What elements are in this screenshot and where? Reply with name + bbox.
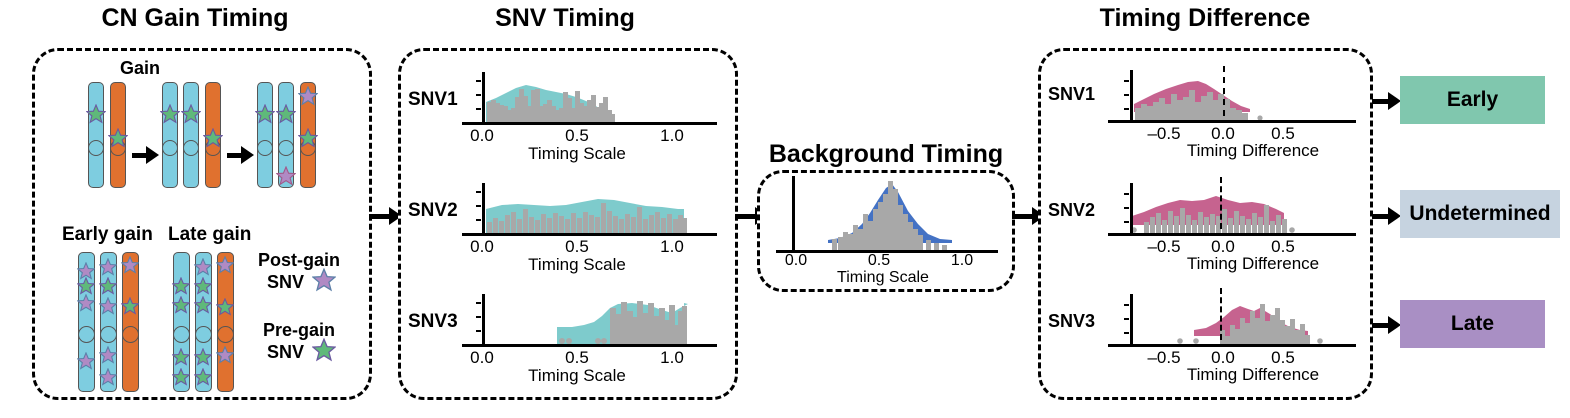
zero-reference-line	[1220, 288, 1222, 340]
pre-gain-star-icon	[298, 128, 318, 148]
outcome-box-early[interactable]: Early	[1400, 76, 1545, 124]
post-gain-star-icon	[99, 346, 117, 364]
legend-pre-gain-line2: SNV	[267, 342, 304, 363]
outcome-arrow-late	[1372, 316, 1402, 334]
pre-gain-star-icon	[194, 296, 212, 314]
pre-gain-star-icon	[181, 104, 201, 124]
plot-timing-diff-snv2	[1108, 183, 1356, 245]
outcome-label-late: Late	[1451, 312, 1494, 336]
pre-gain-star-icon	[203, 128, 223, 148]
post-gain-star-icon	[121, 256, 139, 274]
plot-snv-timing-snv3	[462, 294, 717, 356]
snv-timing-snv3-axis-title: Timing Scale	[487, 366, 667, 386]
gain-arrow-1	[132, 146, 158, 164]
post-gain-star-icon	[216, 256, 234, 274]
pre-gain-star-icon	[86, 104, 106, 124]
plot-timing-diff-snv1	[1108, 70, 1356, 132]
background-timing-tick-1: 0.5	[859, 252, 899, 270]
panel-title-timing-difference: Timing Difference	[1030, 4, 1380, 33]
plot-snv-timing-snv2	[462, 183, 717, 245]
snv-timing-snv2-tick-2: 1.0	[652, 237, 692, 257]
timing-diff-snv2-axis-title: Timing Difference	[1163, 254, 1343, 274]
post-gain-star-icon	[276, 166, 296, 186]
pre-gain-star-icon	[77, 277, 95, 295]
outcome-box-late[interactable]: Late	[1400, 300, 1545, 348]
snv-timing-snv2-tick-1: 0.5	[557, 237, 597, 257]
snv-timing-snv3-tick-1: 0.5	[557, 348, 597, 368]
late-gain-label: Late gain	[168, 224, 251, 246]
post-gain-star-icon	[77, 294, 95, 312]
post-gain-star-icon	[99, 258, 117, 276]
plot-snv-timing-snv1	[462, 72, 717, 134]
pre-gain-star-icon	[121, 297, 139, 315]
timing-diff-row-label-0: SNV1	[1048, 84, 1095, 105]
gain-label: Gain	[120, 58, 160, 79]
pre-gain-star-icon	[312, 338, 336, 362]
snv-timing-row-label-2: SNV3	[408, 311, 458, 333]
snv-timing-row-label-0: SNV1	[408, 89, 458, 111]
background-timing-axis-title: Timing Scale	[798, 269, 968, 287]
post-gain-star-icon	[312, 268, 336, 292]
post-gain-star-icon	[77, 352, 95, 370]
timing-diff-row-label-1: SNV2	[1048, 200, 1095, 221]
timing-diff-snv3-axis-title: Timing Difference	[1163, 365, 1343, 385]
snv-timing-snv1-tick-2: 1.0	[652, 126, 692, 146]
outcome-arrow-undetermined	[1372, 207, 1402, 225]
snv-timing-snv3-tick-2: 1.0	[652, 348, 692, 368]
outcome-label-undetermined: Undetermined	[1409, 202, 1550, 226]
pre-gain-star-icon	[255, 104, 275, 124]
pre-gain-star-icon	[99, 277, 117, 295]
panel-title-background-timing: Background Timing	[752, 140, 1020, 169]
pre-gain-star-icon	[160, 104, 180, 124]
pre-gain-star-icon	[276, 104, 296, 124]
timing-diff-snv1-axis-title: Timing Difference	[1163, 141, 1343, 161]
post-gain-star-icon	[216, 346, 234, 364]
plot-background-timing	[776, 176, 998, 256]
panel-title-snv-timing: SNV Timing	[400, 4, 730, 33]
background-timing-tick-0: 0.0	[776, 252, 816, 270]
outcome-arrow-early	[1372, 92, 1402, 110]
pre-gain-star-icon	[172, 277, 190, 295]
post-gain-star-icon	[99, 368, 117, 386]
post-gain-star-icon	[99, 297, 117, 315]
pre-gain-star-icon	[194, 368, 212, 386]
pre-gain-star-icon	[108, 128, 128, 148]
snv-timing-snv1-tick-1: 0.5	[557, 126, 597, 146]
pre-gain-star-icon	[194, 277, 212, 295]
gain-arrow-2	[227, 146, 253, 164]
background-timing-tick-2: 1.0	[942, 252, 982, 270]
plot-timing-diff-snv3	[1108, 294, 1356, 356]
post-gain-star-icon	[298, 86, 318, 106]
zero-reference-line	[1220, 177, 1222, 229]
zero-reference-line	[1223, 66, 1225, 116]
pre-gain-star-icon	[172, 368, 190, 386]
timing-diff-row-label-2: SNV3	[1048, 311, 1095, 332]
pre-gain-star-icon	[172, 348, 190, 366]
outcome-label-early: Early	[1447, 88, 1498, 112]
pre-gain-star-icon	[194, 348, 212, 366]
legend-post-gain-line2: SNV	[267, 272, 304, 293]
pre-gain-star-icon	[172, 296, 190, 314]
pre-gain-star-icon	[216, 298, 234, 316]
snv-timing-snv1-axis-title: Timing Scale	[487, 144, 667, 164]
snv-timing-snv1-tick-0: 0.0	[462, 126, 502, 146]
snv-timing-snv3-tick-0: 0.0	[462, 348, 502, 368]
plot-canvas	[776, 176, 998, 256]
snv-timing-snv2-tick-0: 0.0	[462, 237, 502, 257]
snv-timing-row-label-1: SNV2	[408, 200, 458, 222]
snv-timing-snv2-axis-title: Timing Scale	[487, 255, 667, 275]
outcome-box-undetermined[interactable]: Undetermined	[1400, 190, 1560, 238]
post-gain-star-icon	[194, 258, 212, 276]
early-gain-label: Early gain	[62, 224, 153, 246]
panel-title-cn-gain-timing: CN Gain Timing	[20, 4, 370, 33]
